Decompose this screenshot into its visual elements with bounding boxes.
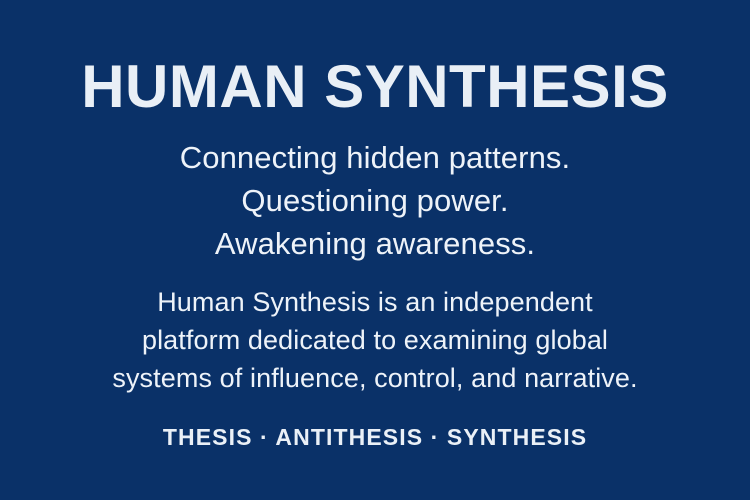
- tagline-line-1: Connecting hidden patterns.: [0, 136, 750, 179]
- tagline-line-2: Questioning power.: [0, 179, 750, 222]
- description-block: Human Synthesis is an independent platfo…: [0, 283, 750, 397]
- description-line-2: platform dedicated to examining global: [0, 321, 750, 359]
- brand-banner: HUMAN SYNTHESIS Connecting hidden patter…: [0, 0, 750, 500]
- description-line-3: systems of influence, control, and narra…: [0, 359, 750, 397]
- page-title: HUMAN SYNTHESIS: [0, 57, 750, 117]
- description-line-1: Human Synthesis is an independent: [0, 283, 750, 321]
- motto-line: THESIS · ANTITHESIS · SYNTHESIS: [0, 423, 750, 452]
- tagline-block: Connecting hidden patterns. Questioning …: [0, 136, 750, 265]
- tagline-line-3: Awakening awareness.: [0, 222, 750, 265]
